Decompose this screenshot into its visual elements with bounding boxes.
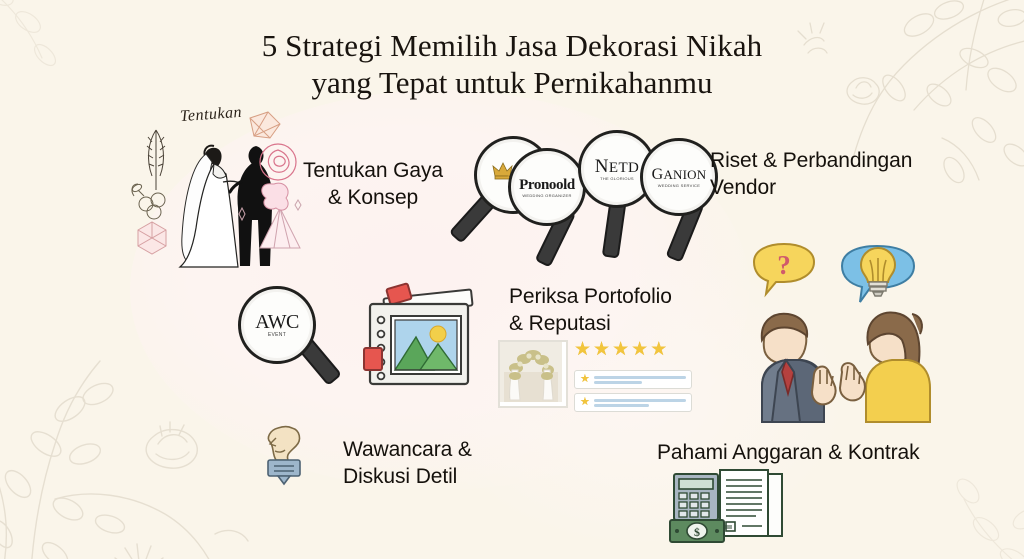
woman-shirt xyxy=(866,360,930,422)
step-1-line-2: & Konsep xyxy=(303,185,443,212)
question-mark-icon: ? xyxy=(777,250,791,280)
title-line-1: 5 Strategi Memilih Jasa Dekorasi Nikah xyxy=(0,28,1024,65)
gem-hexagon-icon xyxy=(138,222,166,254)
gem-diamond-icon xyxy=(250,112,280,138)
review-row: ★ xyxy=(574,370,692,389)
step-4-line-2: Diskusi Detil xyxy=(343,464,472,491)
star-icon: ★ xyxy=(612,340,629,359)
rose-icon xyxy=(260,144,296,180)
peony-icon xyxy=(262,183,288,210)
star-icon: ★ xyxy=(580,397,590,408)
step-1-line-1: Tentukan Gaya xyxy=(303,158,443,185)
title-line-2: yang Tepat untuk Pernikahanmu xyxy=(0,65,1024,102)
star-icon: ★ xyxy=(631,340,648,359)
portfolio-reviews-illustration: ★ ★ ★ ★ ★ ★ ★ xyxy=(498,340,670,412)
feather-icon xyxy=(147,130,165,190)
star-rating: ★ ★ ★ ★ ★ xyxy=(574,340,667,359)
wedding-arch-photo xyxy=(498,340,568,408)
pronoold-logo: Pronoold WEDDING ORGANIZER xyxy=(519,177,575,198)
step-label-1: Tentukan Gaya & Konsep xyxy=(303,158,443,212)
star-icon: ★ xyxy=(574,340,591,359)
photo-sun xyxy=(430,326,446,342)
woman-figure xyxy=(840,312,930,422)
star-icon: ★ xyxy=(650,340,667,359)
infographic-canvas: 5 Strategi Memilih Jasa Dekorasi Nikah y… xyxy=(0,0,1024,559)
man-hand xyxy=(812,367,836,405)
lens-pronoold: Pronoold WEDDING ORGANIZER xyxy=(508,148,586,226)
budget-contract-illustration: $ xyxy=(668,468,790,552)
netd-logo: NETD THE GLORIOUS xyxy=(595,157,639,181)
star-icon: ★ xyxy=(593,340,610,359)
interview-icon-illustration xyxy=(262,424,308,490)
step-label-5: Pahami Anggaran & Kontrak xyxy=(657,440,920,467)
step-3-line-1: Periksa Portofolio xyxy=(509,284,672,311)
dollar-symbol: $ xyxy=(694,525,700,539)
review-list: ★ ★ xyxy=(574,366,692,412)
step-2-line-2: Vendor xyxy=(710,175,912,202)
star-icon: ★ xyxy=(580,374,590,385)
step-label-2: Riset & Perbandingan Vendor xyxy=(710,148,912,202)
step-4-line-1: Wawancara & xyxy=(343,437,472,464)
idea-speech-bubble xyxy=(842,246,914,302)
step-label-3: Periksa Portofolio & Reputasi xyxy=(509,284,672,338)
bride-figure xyxy=(180,146,246,267)
step-3-line-2: & Reputasi xyxy=(509,311,672,338)
awc-magnifier-illustration: AWC EVENT xyxy=(238,286,336,384)
photo-album-illustration xyxy=(362,282,480,386)
speech-badge-icon xyxy=(268,460,300,484)
step-2-line-1: Riset & Perbandingan xyxy=(710,148,912,175)
step-5-line-1: Pahami Anggaran & Kontrak xyxy=(657,440,920,467)
contract-text-lines xyxy=(726,480,762,516)
woman-hand xyxy=(840,363,865,400)
vendor-magnifiers-illustration: VS Pronoold WEDDING ORGANIZER NETD THE G… xyxy=(466,124,716,252)
calculator-display xyxy=(679,479,713,489)
discussion-people-illustration: ? xyxy=(742,244,932,424)
wedding-couple-illustration: Tentukan xyxy=(128,104,306,284)
awc-logo: AWC EVENT xyxy=(255,312,299,338)
lens-awc: AWC EVENT xyxy=(238,286,316,364)
face-profile-icon xyxy=(268,427,299,461)
man-figure xyxy=(762,314,836,422)
flower-sprig-left xyxy=(131,183,165,219)
ganion-logo: GANION WEDDING SERVICE xyxy=(652,167,707,188)
lens-ganion: GANION WEDDING SERVICE xyxy=(640,138,718,216)
album-tab-side xyxy=(364,348,382,370)
review-row: ★ xyxy=(574,393,692,412)
page-title: 5 Strategi Memilih Jasa Dekorasi Nikah y… xyxy=(0,28,1024,101)
question-speech-bubble: ? xyxy=(754,244,814,294)
step-label-4: Wawancara & Diskusi Detil xyxy=(343,437,472,491)
calculator-keys xyxy=(679,493,709,517)
